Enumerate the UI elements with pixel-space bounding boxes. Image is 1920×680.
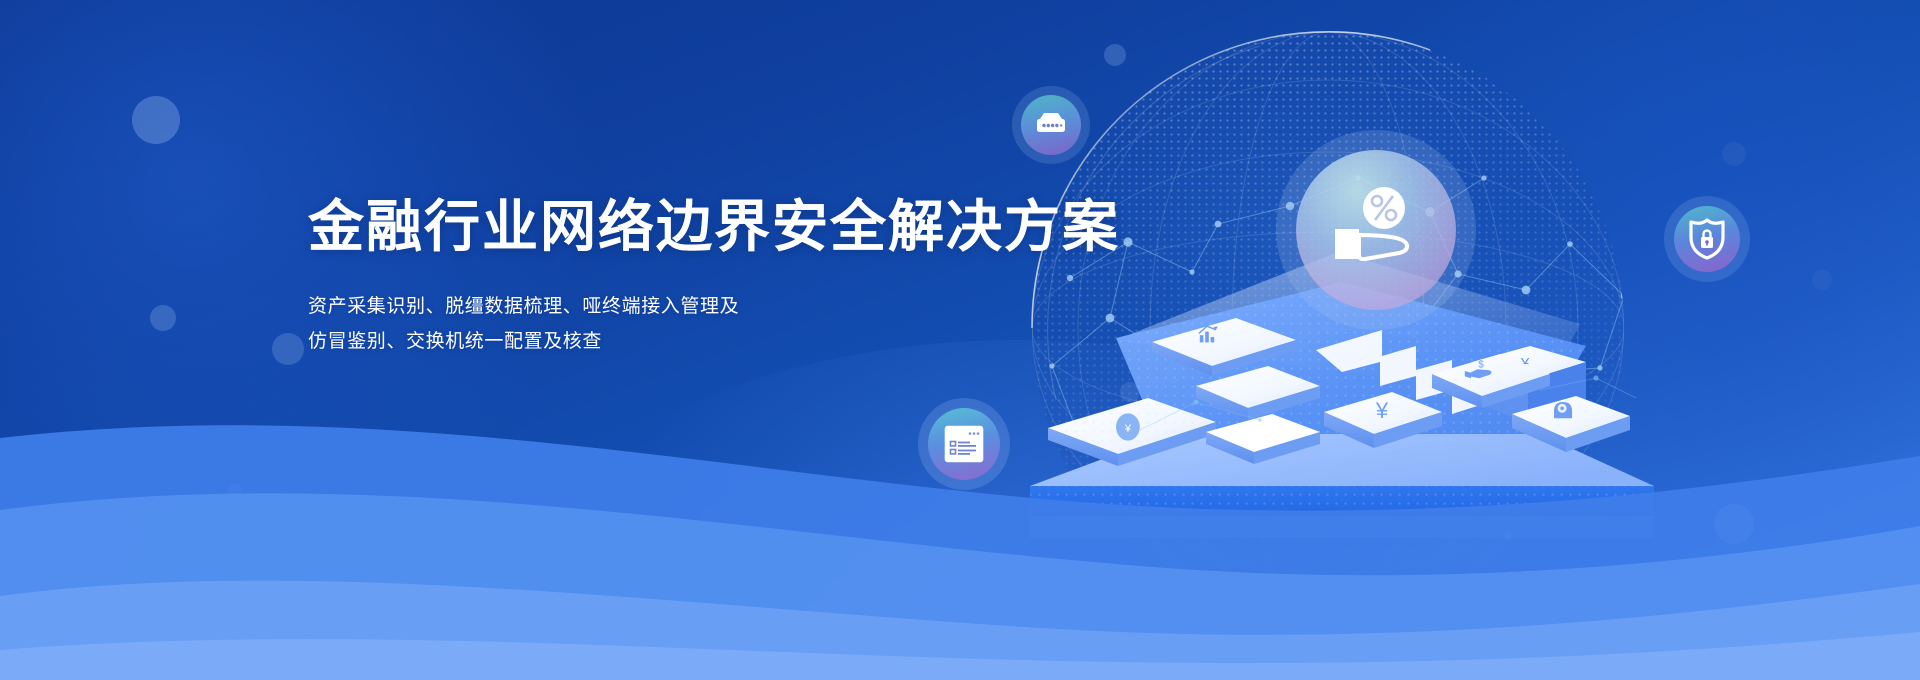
page-title: 金融行业网络边界安全解决方案 — [308, 196, 1068, 259]
percent-hand-icon-badge — [1276, 130, 1476, 330]
hero-banner: ¥ ¥ — [0, 0, 1920, 680]
document-icon-badge — [918, 398, 1010, 490]
hero-subtitle-line-1: 资产采集识别、脱缰数据梳理、哑终端接入管理及 — [308, 289, 1068, 324]
router-icon — [1033, 110, 1069, 140]
bokeh-circle — [1812, 270, 1832, 290]
router-icon-badge — [1012, 86, 1090, 164]
hero-subtitle: 资产采集识别、脱缰数据梳理、哑终端接入管理及 仿冒鉴别、交换机统一配置及核查 — [308, 289, 1068, 359]
bokeh-circle — [1722, 142, 1746, 166]
document-icon — [944, 425, 984, 463]
percent-hand-icon — [1321, 185, 1431, 275]
bokeh-circle — [150, 305, 176, 331]
bokeh-circle — [132, 96, 180, 144]
hero-copy-block: 金融行业网络边界安全解决方案 资产采集识别、脱缰数据梳理、哑终端接入管理及 仿冒… — [308, 196, 1068, 359]
shield-lock-icon — [1687, 217, 1727, 261]
hero-subtitle-line-2: 仿冒鉴别、交换机统一配置及核查 — [308, 324, 1068, 359]
shield-lock-icon-badge — [1664, 196, 1750, 282]
